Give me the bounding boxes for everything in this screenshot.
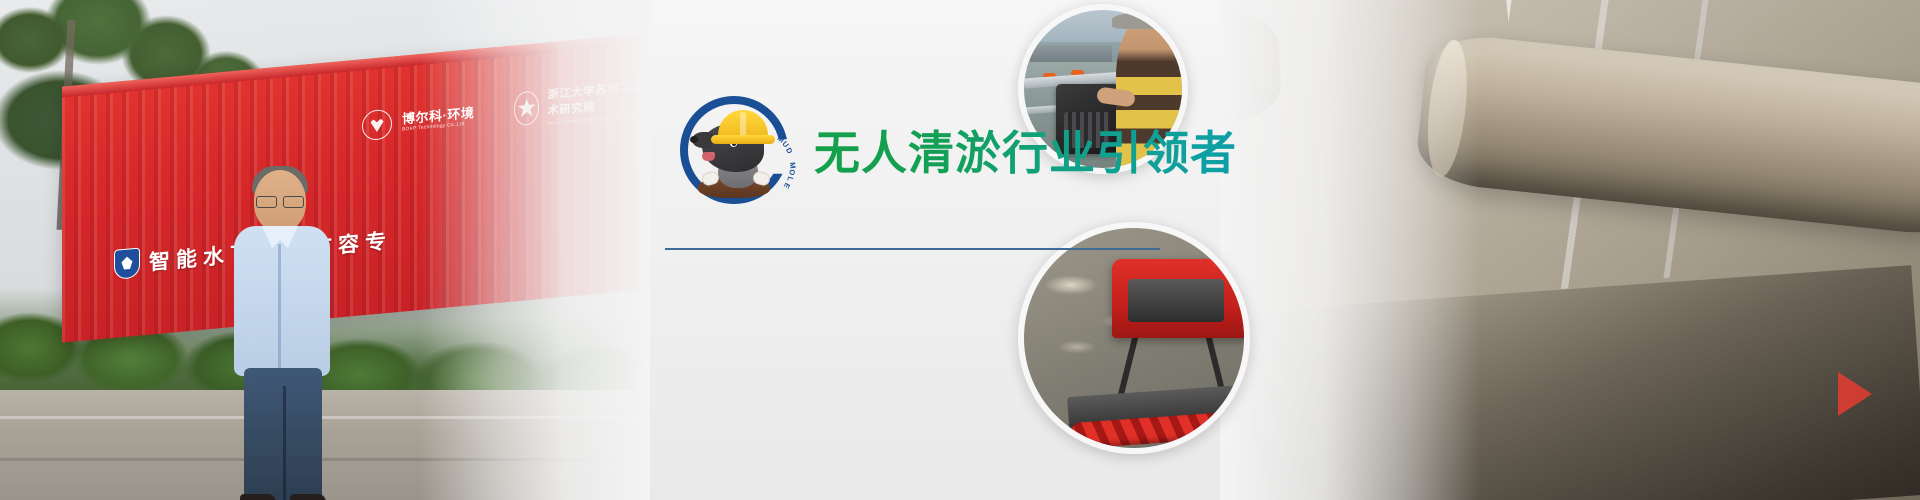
center-content: MUD MOLE 无人清淤行业引领者: [680, 96, 1240, 204]
shield-icon: [114, 248, 140, 280]
left-photo: 博尔科·环境 BOKP Technology Co.,Ltd 浙江大学苏州工业技…: [0, 0, 650, 500]
person-placket: [278, 244, 281, 370]
arrow-icon: [1838, 372, 1872, 416]
hero-banner: 博尔科·环境 BOKP Technology Co.,Ltd 浙江大学苏州工业技…: [0, 0, 1920, 500]
glasses-icon: [256, 196, 304, 206]
right-photo-fade: [1220, 0, 1480, 500]
left-photo-fade: [420, 0, 650, 500]
divider: [665, 248, 1160, 250]
headline: 无人清淤行业引领者: [814, 117, 1237, 183]
person-shirt: [234, 226, 330, 376]
mole-mouth: [702, 152, 715, 161]
logo-arc-char: L: [785, 175, 795, 182]
logo-arc-char: O: [787, 169, 797, 176]
logo-arc-char: M: [788, 162, 798, 169]
robot-chassis: [1112, 259, 1248, 338]
mole-nose: [690, 136, 698, 143]
person-trousers: [244, 368, 322, 500]
mud-mole-logo: MUD MOLE: [680, 96, 788, 204]
brand-mark-icon: [362, 109, 392, 142]
logo-and-headline-row: MUD MOLE 无人清淤行业引领者: [680, 96, 1240, 204]
logo-arc-char: E: [782, 181, 792, 190]
mole-mascot-icon: [696, 110, 772, 192]
operator-cap: [1112, 13, 1178, 29]
hard-hat-icon: [718, 110, 768, 140]
circle-photo-dredging-robot: [1018, 222, 1250, 454]
person-shoes: [240, 492, 326, 500]
right-photo: [1220, 0, 1920, 500]
person-photo: [228, 170, 338, 500]
